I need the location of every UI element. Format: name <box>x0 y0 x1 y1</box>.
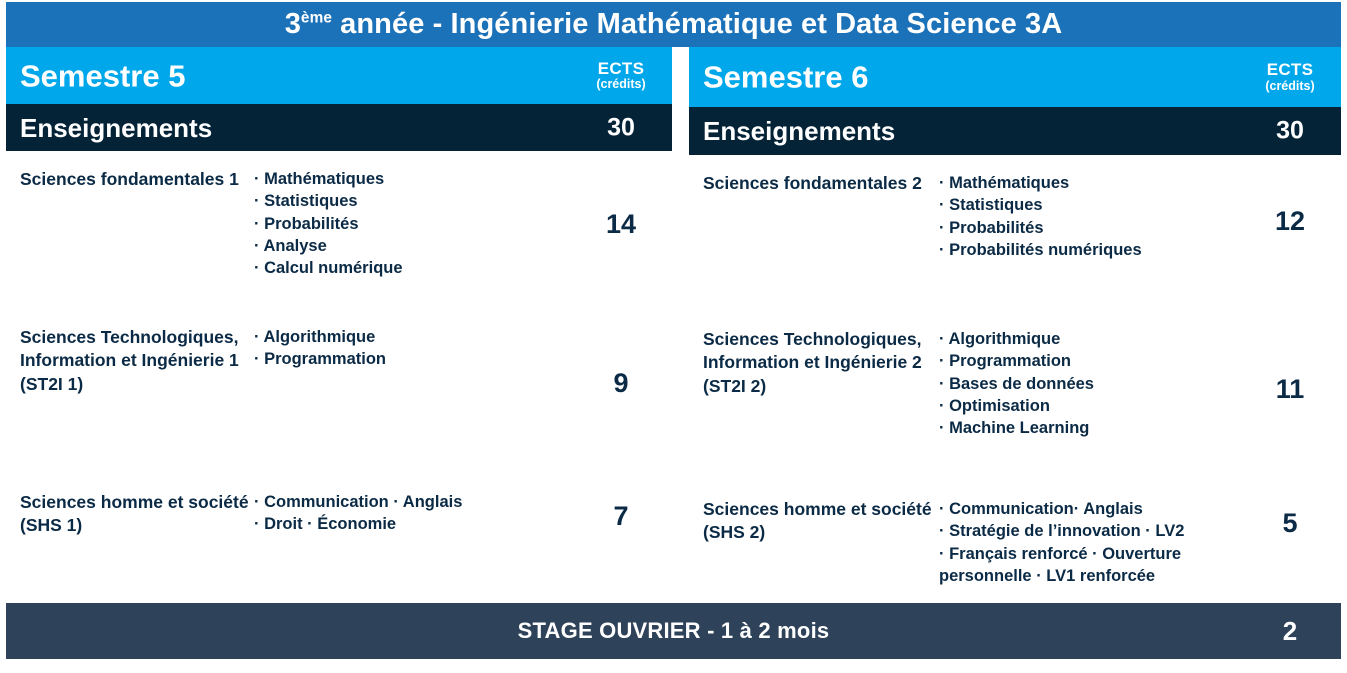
unit-credits: 5 <box>1239 498 1341 537</box>
teaching-band-6: Enseignements 30 <box>689 107 1341 155</box>
teaching-label-5: Enseignements <box>20 115 212 141</box>
unit-courses: · Algorithmique · Programmation <box>254 326 570 371</box>
ects-label-6: ECTS <box>1239 61 1341 79</box>
unit-credits: 14 <box>570 168 672 238</box>
list-item: · Algorithmique <box>254 326 564 348</box>
teaching-label-6: Enseignements <box>703 118 895 144</box>
list-item: · Optimisation <box>939 395 1233 417</box>
list-item: · Mathématiques <box>939 172 1233 194</box>
ects-label-5: ECTS <box>570 60 672 78</box>
list-item: · Stratégie de l’innovation · LV2 <box>939 520 1233 542</box>
ects-header-5: ECTS (crédits) <box>570 60 672 92</box>
list-item: · Statistiques <box>939 194 1233 216</box>
list-item: · Probabilités <box>254 213 564 235</box>
list-item: · Mathématiques <box>254 168 564 190</box>
unit-courses: · Mathématiques · Statistiques · Probabi… <box>939 172 1239 261</box>
semester-header-5: Semestre 5 ECTS (crédits) <box>6 47 672 104</box>
unit-credits: 11 <box>1239 328 1341 403</box>
list-item: · Probabilités numériques <box>939 239 1233 261</box>
unit-credits: 12 <box>1239 172 1341 235</box>
list-item: · Calcul numérique <box>254 257 564 279</box>
unit-name: Sciences homme et société (SHS 1) <box>6 491 254 538</box>
teaching-credits-6: 30 <box>1239 119 1341 144</box>
page-title-bar: 3ème année - Ingénierie Mathématique et … <box>6 2 1341 47</box>
page-title: 3ème année - Ingénierie Mathématique et … <box>285 10 1063 39</box>
table-row: Sciences homme et société (SHS 1) · Comm… <box>6 466 672 609</box>
semester-title-6: Semestre 6 <box>703 62 868 93</box>
ects-sublabel-6: (crédits) <box>1239 80 1341 93</box>
unit-courses: · Algorithmique · Programmation · Bases … <box>939 328 1239 439</box>
list-item: · Analyse <box>254 235 564 257</box>
unit-name: Sciences Technologiques, Information et … <box>689 328 939 398</box>
ects-header-6: ECTS (crédits) <box>1239 61 1341 93</box>
list-item: · Machine Learning <box>939 417 1233 439</box>
unit-name: Sciences homme et société (SHS 2) <box>689 498 939 545</box>
teaching-units-6: Sciences fondamentales 2 · Mathématiques… <box>689 155 1341 616</box>
teaching-credits-5: 30 <box>570 115 672 140</box>
table-row: Sciences Technologiques, Information et … <box>689 309 1341 470</box>
semesters-container: Semestre 5 ECTS (crédits) Enseignements … <box>0 47 1347 592</box>
teaching-band-5: Enseignements 30 <box>6 104 672 151</box>
unit-courses: · Communication · Anglais · Droit · Écon… <box>254 491 570 536</box>
table-row: Sciences fondamentales 2 · Mathématiques… <box>689 155 1341 309</box>
list-item: · Statistiques <box>254 190 564 212</box>
list-item: · Français renforcé · Ouverture personne… <box>939 543 1233 588</box>
ects-sublabel-5: (crédits) <box>570 78 672 91</box>
unit-name: Sciences fondamentales 2 <box>689 172 939 195</box>
curriculum-page: 3ème année - Ingénierie Mathématique et … <box>0 0 1347 673</box>
list-item: · Bases de données <box>939 373 1233 395</box>
list-item: · Communication · Anglais <box>254 491 564 513</box>
list-item: · Programmation <box>939 350 1233 372</box>
list-item: · Algorithmique <box>939 328 1233 350</box>
unit-courses: · Mathématiques · Statistiques · Probabi… <box>254 168 570 279</box>
list-item: · Communication· Anglais <box>939 498 1233 520</box>
unit-credits: 7 <box>570 491 672 530</box>
unit-name: Sciences Technologiques, Information et … <box>6 326 254 396</box>
internship-credits: 2 <box>1239 618 1341 644</box>
semester-column-6: Semestre 6 ECTS (crédits) Enseignements … <box>689 47 1341 616</box>
internship-label: STAGE OUVRIER - 1 à 2 mois <box>6 620 1341 642</box>
list-item: · Programmation <box>254 348 564 370</box>
table-row: Sciences fondamentales 1 · Mathématiques… <box>6 151 672 308</box>
unit-credits: 9 <box>570 326 672 397</box>
unit-name: Sciences fondamentales 1 <box>6 168 254 191</box>
table-row: Sciences Technologiques, Information et … <box>6 308 672 466</box>
page-title-prefix: 3 <box>285 8 301 40</box>
page-title-superscript: ème <box>301 9 332 26</box>
teaching-units-5: Sciences fondamentales 1 · Mathématiques… <box>6 151 672 609</box>
page-title-rest: année - Ingénierie Mathématique et Data … <box>332 8 1062 40</box>
table-row: Sciences homme et société (SHS 2) · Comm… <box>689 470 1341 616</box>
list-item: · Probabilités <box>939 217 1233 239</box>
semester-title-5: Semestre 5 <box>20 60 185 91</box>
semester-column-5: Semestre 5 ECTS (crédits) Enseignements … <box>6 47 672 609</box>
semester-header-6: Semestre 6 ECTS (crédits) <box>689 47 1341 107</box>
unit-courses: · Communication· Anglais · Stratégie de … <box>939 498 1239 587</box>
list-item: · Droit · Économie <box>254 513 564 535</box>
internship-bar: STAGE OUVRIER - 1 à 2 mois 2 <box>6 603 1341 659</box>
